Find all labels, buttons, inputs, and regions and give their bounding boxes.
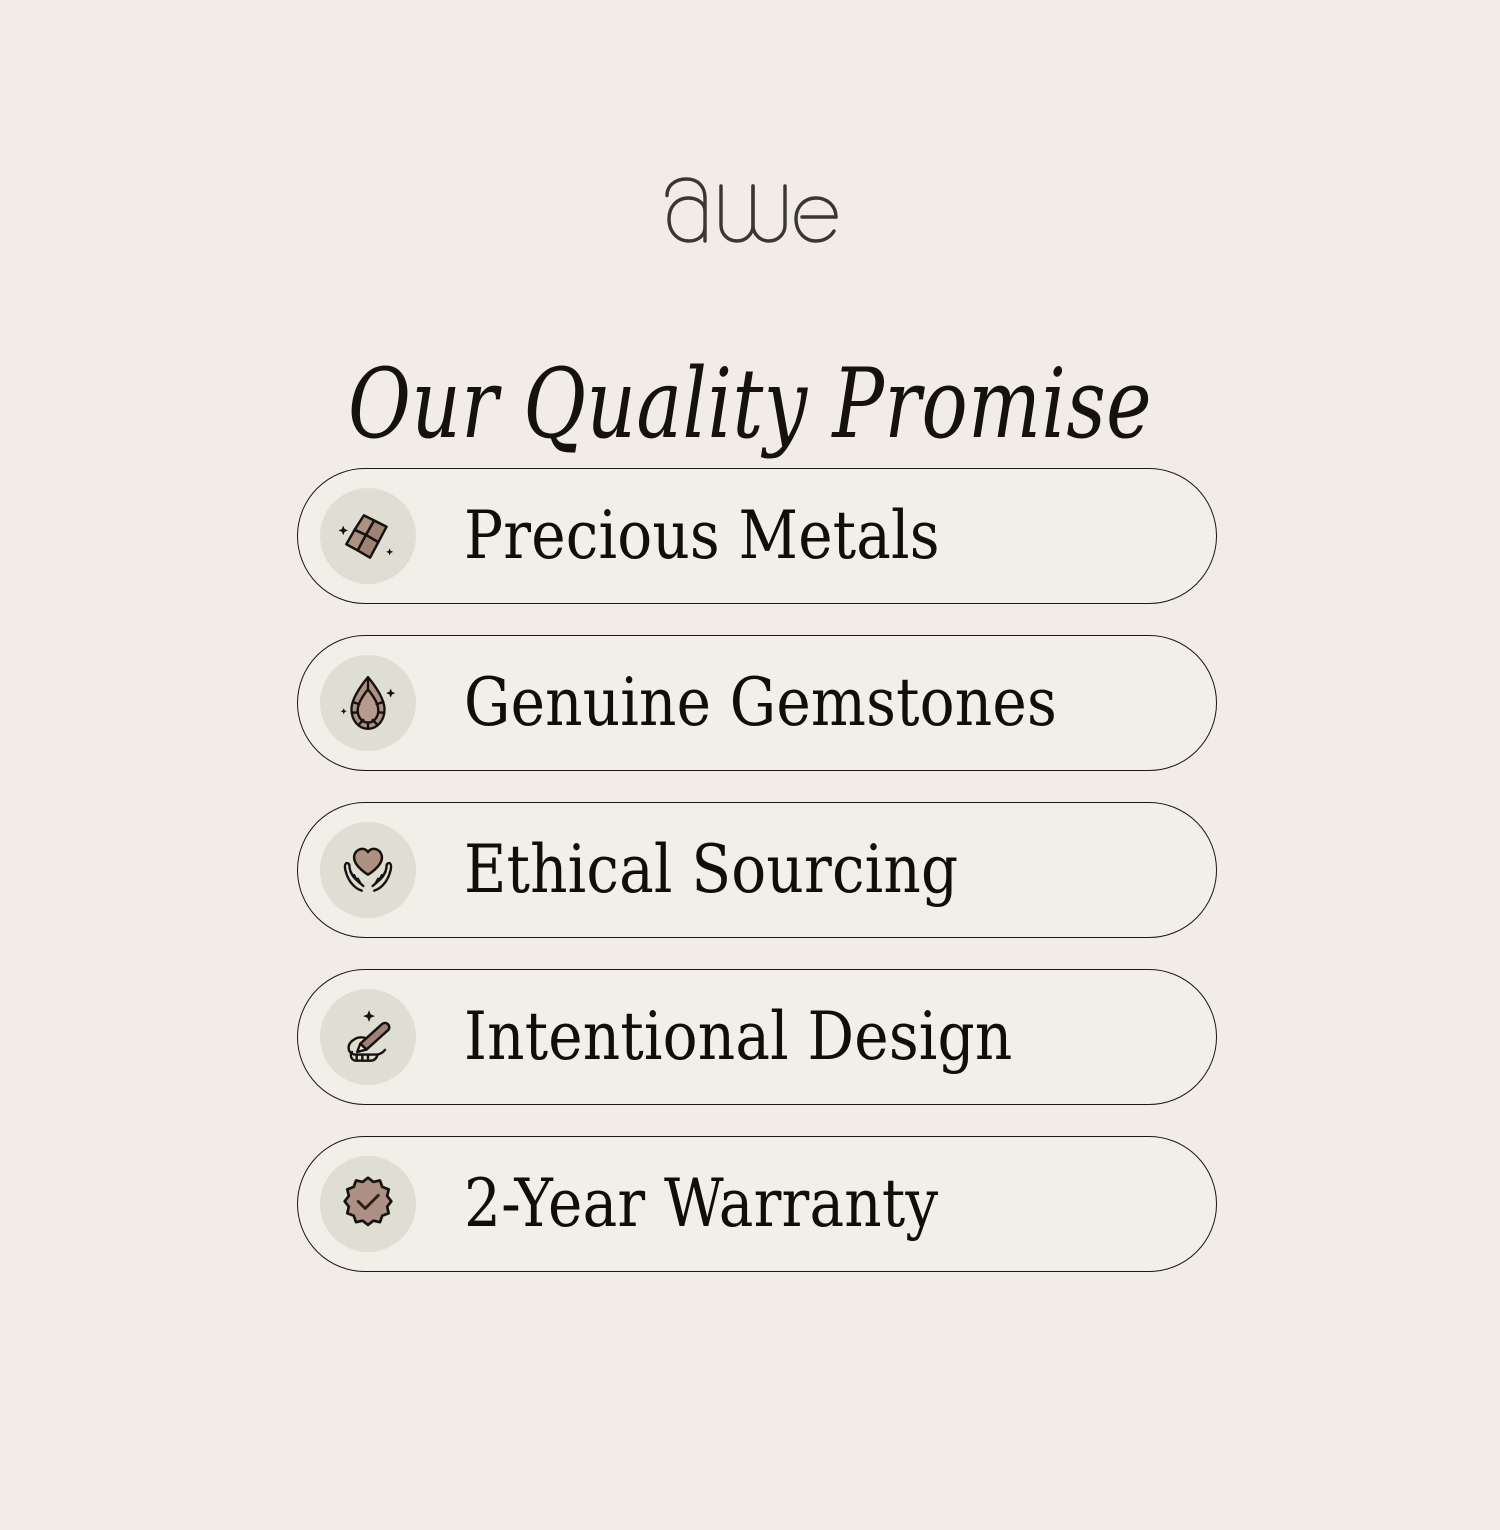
icon-circle xyxy=(320,1156,416,1252)
promise-label: Precious Metals xyxy=(464,503,940,569)
quality-promise-page: Our Quality Promise xyxy=(0,0,1500,1530)
badge-check-icon xyxy=(335,1171,401,1237)
icon-circle xyxy=(320,822,416,918)
promise-label: Ethical Sourcing xyxy=(464,837,958,903)
promise-item-warranty[interactable]: 2-Year Warranty xyxy=(297,1136,1217,1272)
gemstone-icon xyxy=(335,670,401,736)
awe-wordmark-icon xyxy=(650,165,850,255)
hand-with-pen-icon xyxy=(335,1004,401,1070)
promise-list: Precious Metals xyxy=(297,468,1217,1272)
page-title: Our Quality Promise xyxy=(150,352,1350,458)
promise-item-genuine-gemstones[interactable]: Genuine Gemstones xyxy=(297,635,1217,771)
heart-in-hands-icon xyxy=(335,837,401,903)
gold-bars-icon xyxy=(335,503,401,569)
promise-label: 2-Year Warranty xyxy=(464,1171,938,1237)
promise-item-intentional-design[interactable]: Intentional Design xyxy=(297,969,1217,1105)
promise-label: Intentional Design xyxy=(464,1004,1013,1070)
brand-logo xyxy=(0,150,1500,270)
icon-circle xyxy=(320,655,416,751)
icon-circle xyxy=(320,989,416,1085)
promise-label: Genuine Gemstones xyxy=(464,670,1057,736)
promise-item-ethical-sourcing[interactable]: Ethical Sourcing xyxy=(297,802,1217,938)
promise-item-precious-metals[interactable]: Precious Metals xyxy=(297,468,1217,604)
icon-circle xyxy=(320,488,416,584)
